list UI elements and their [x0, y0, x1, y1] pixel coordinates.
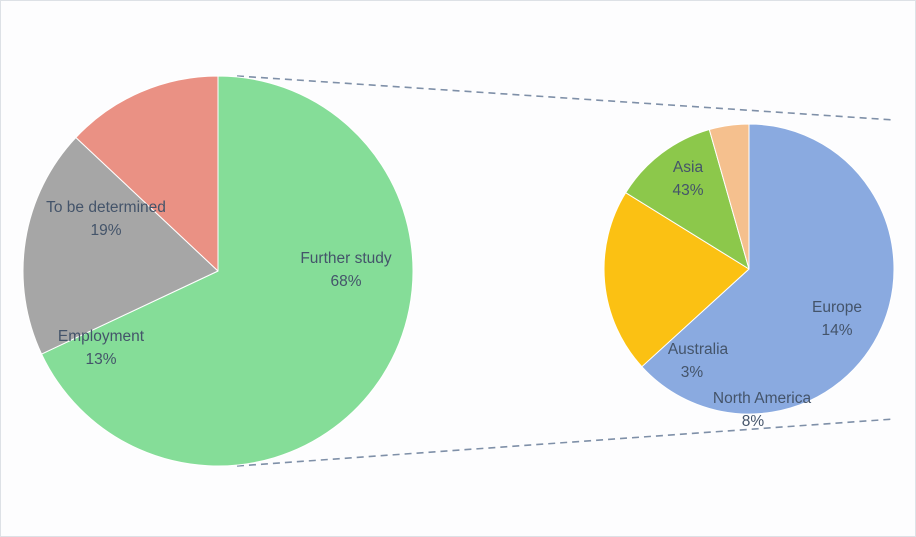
slice-percent-north-america: 8%: [742, 413, 765, 430]
slice-label-employment: Employment: [58, 328, 145, 345]
slice-percent-to-be-determined: 19%: [90, 222, 121, 239]
chart-canvas: Further study68%To be determined19%Emplo…: [0, 0, 916, 537]
slice-percent-australia: 3%: [681, 364, 704, 381]
pie-slices-group: [23, 76, 894, 466]
slice-label-north-america: North America: [713, 390, 812, 407]
slice-label-to-be-determined: To be determined: [46, 199, 166, 216]
slice-label-australia: Australia: [668, 341, 729, 358]
slice-percent-europe: 14%: [821, 322, 852, 339]
connector-top: [237, 76, 894, 120]
slice-label-asia: Asia: [673, 159, 704, 176]
slice-label-further-study: Further study: [300, 250, 392, 267]
pie-of-pie-chart: Further study68%To be determined19%Emplo…: [1, 1, 916, 537]
slice-percent-employment: 13%: [85, 351, 116, 368]
slice-percent-asia: 43%: [672, 182, 703, 199]
slice-percent-further-study: 68%: [330, 273, 361, 290]
slice-label-europe: Europe: [812, 299, 862, 316]
